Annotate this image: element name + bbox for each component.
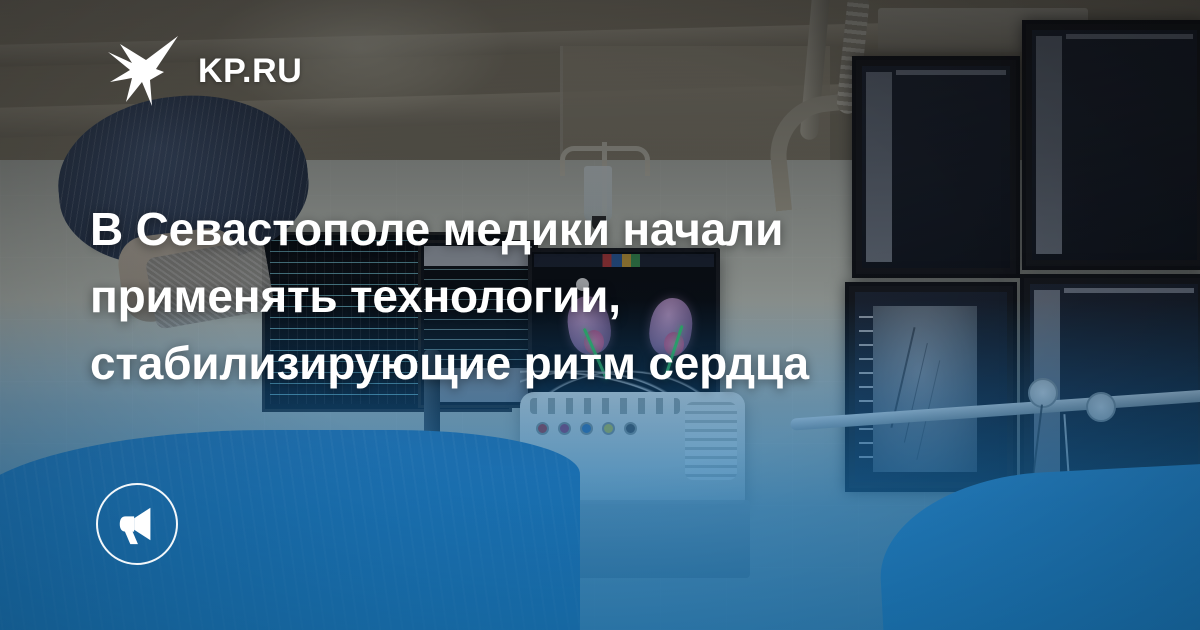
brand-logo[interactable]: KP.RU — [106, 36, 302, 106]
audio-announcement-badge[interactable] — [96, 483, 178, 565]
megaphone-icon — [114, 501, 160, 547]
social-share-card: KP.RU В Севастополе медики начали примен… — [0, 0, 1200, 630]
page-title: В Севастополе медики начали применять те… — [90, 196, 1020, 397]
brand-name-text: KP.RU — [198, 52, 302, 91]
swallow-bird-icon — [106, 36, 180, 106]
